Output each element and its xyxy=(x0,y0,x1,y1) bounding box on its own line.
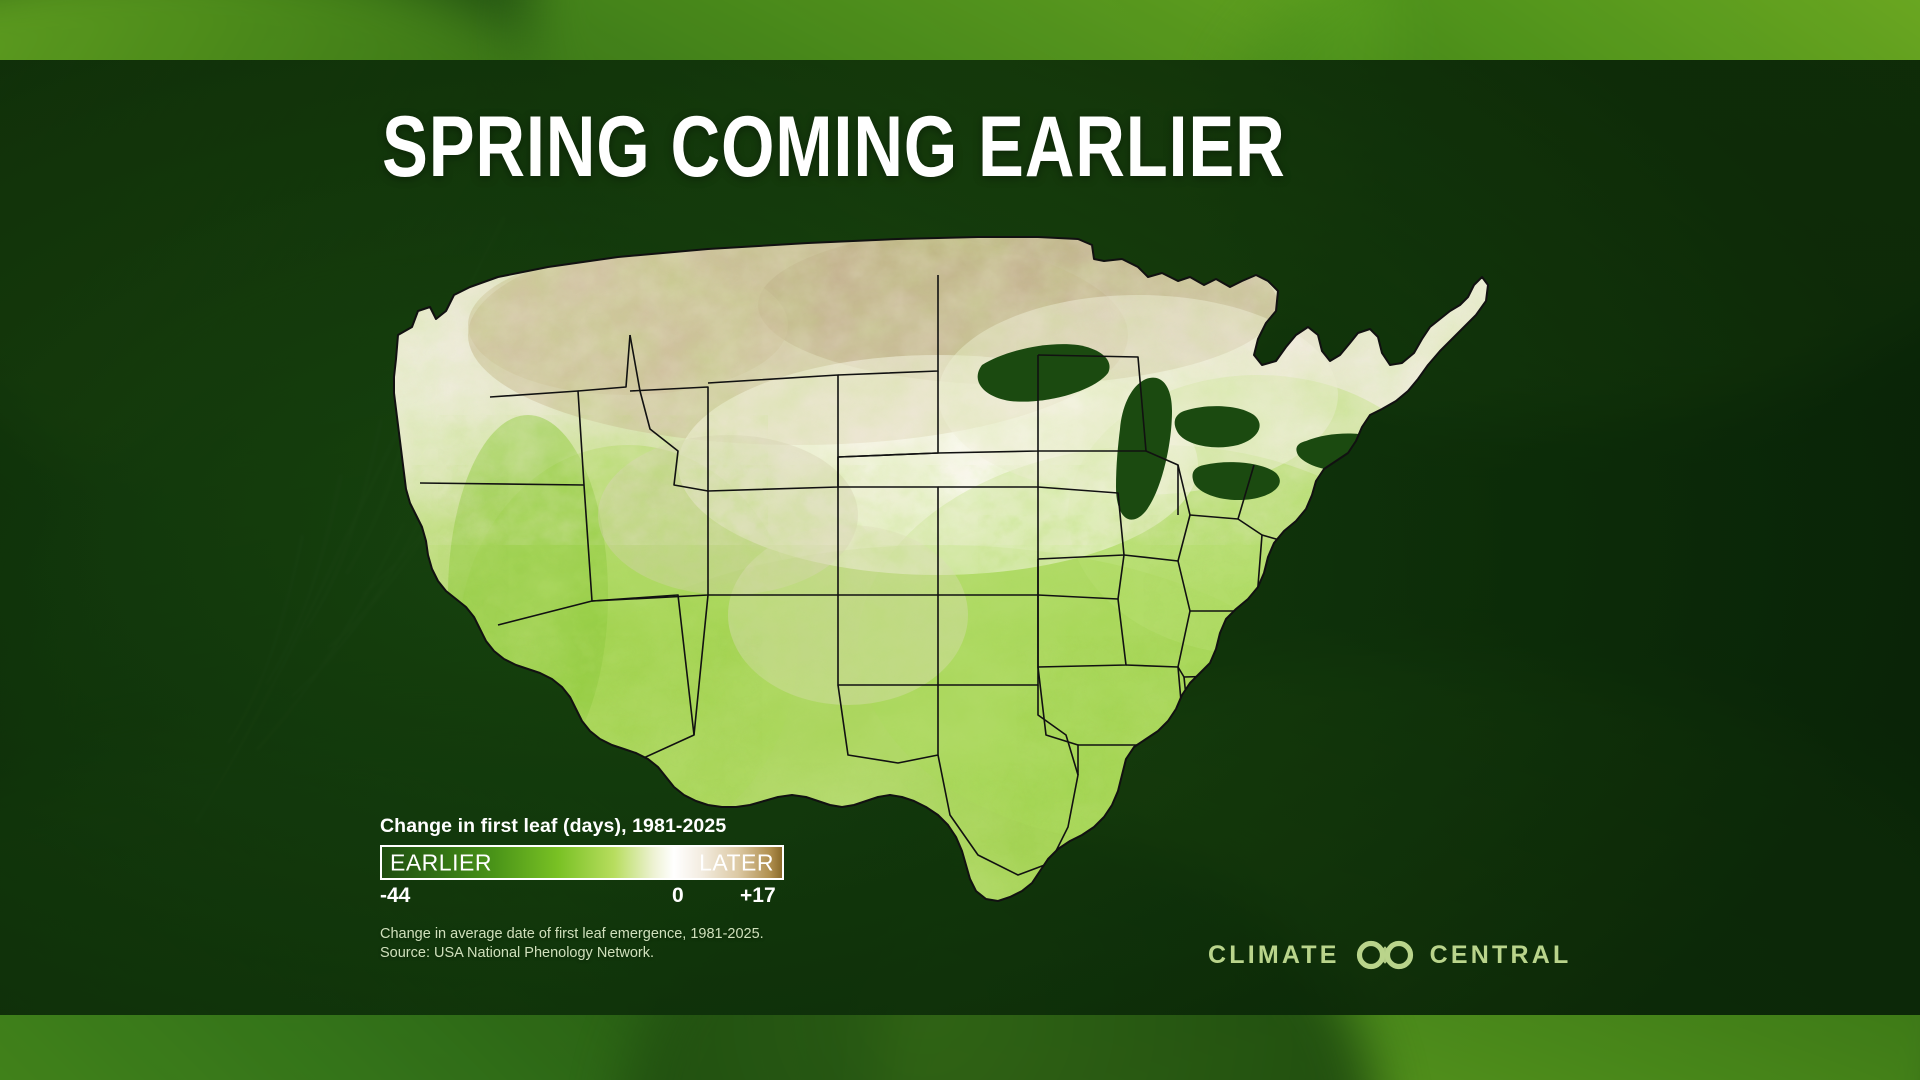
legend-label-earlier: EARLIER xyxy=(390,849,492,876)
legend-title: Change in first leaf (days), 1981-2025 xyxy=(380,815,784,838)
logo-word-central: CENTRAL xyxy=(1430,941,1572,970)
legend-color-bar: EARLIER LATER xyxy=(380,845,784,880)
legend-tick-max: +17 xyxy=(740,884,776,908)
page-title: SPRING COMING EARLIER xyxy=(382,101,1286,193)
us-choropleth-map xyxy=(378,215,1493,915)
legend-label-later: LATER xyxy=(699,849,774,876)
infographic-canvas: SPRING COMING EARLIER xyxy=(0,0,1920,1080)
legend-tick-min: -44 xyxy=(380,884,410,908)
map-svg xyxy=(378,215,1493,915)
legend-ticks: -44 0 +17 xyxy=(380,884,784,912)
climate-central-logo: CLIMATE CENTRAL xyxy=(1208,940,1572,970)
logo-word-climate: CLIMATE xyxy=(1208,941,1340,970)
map-legend: Change in first leaf (days), 1981-2025 E… xyxy=(380,815,784,963)
legend-tick-zero: 0 xyxy=(672,884,684,908)
legend-caption: Change in average date of first leaf eme… xyxy=(380,925,784,963)
interlocking-rings-icon xyxy=(1354,940,1416,970)
